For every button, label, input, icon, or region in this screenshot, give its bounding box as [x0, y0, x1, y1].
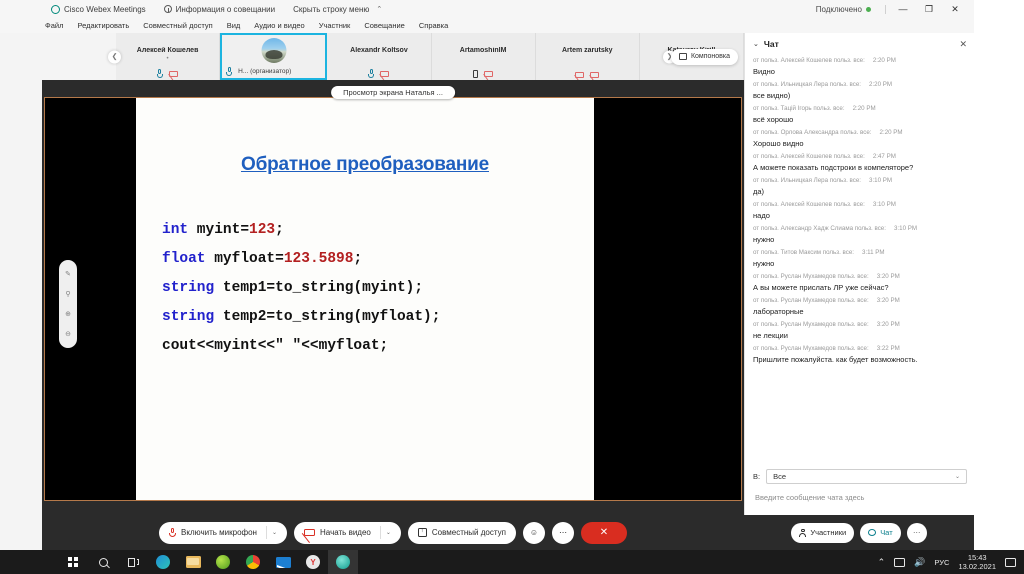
participant-status-icons	[327, 69, 430, 78]
taskbar-app-chrome[interactable]	[238, 550, 268, 574]
participant-name: Alexandr Koltsov	[327, 47, 430, 54]
minimize-icon: —	[899, 4, 908, 14]
chat-message: от польз. Руслан Мухамедов польз. все:3:…	[753, 271, 967, 294]
microphone-icon	[226, 67, 232, 76]
chat-message-sender: от польз. Алексей Кошелев польз. все:	[753, 201, 865, 208]
code-lines: int myint=123; float myfloat=123.5898; s…	[162, 222, 440, 354]
chat-message: от польз. Алексей Кошелев польз. все:2:4…	[753, 151, 967, 174]
chat-message-text: всё хорошо	[753, 114, 967, 126]
mail-icon	[276, 557, 291, 568]
panel-control-bar: Участники Чат ⋯	[744, 515, 974, 550]
close-icon: ✕	[951, 4, 959, 15]
thumbnails-prev-button[interactable]: ❮	[108, 50, 121, 63]
chat-message-text: Хорошо видно	[753, 138, 967, 150]
chat-message-text: А вы можете прислать ЛР уже сейчас?	[753, 282, 967, 294]
network-icon[interactable]	[894, 558, 905, 567]
chat-message-sender: от польз. Ильницкая Лера польз. все:	[753, 177, 861, 184]
menu-item-audio-video[interactable]: Аудио и видео	[247, 21, 311, 30]
task-view-icon	[128, 558, 139, 567]
menu-item-file[interactable]: Файл	[38, 21, 70, 30]
zoom-in-icon[interactable]: ⊕	[64, 310, 73, 319]
screen: Cisco Webex Meetings Информация о совеща…	[0, 0, 1024, 574]
chat-message-text: лабораторные	[753, 306, 967, 318]
start-video-button[interactable]: Начать видео ⌄	[294, 522, 401, 544]
menu-item-participant[interactable]: Участник	[312, 21, 358, 30]
volume-icon[interactable]: 🔊	[914, 557, 925, 568]
chat-message: от польз. Руслан Мухамедов польз. все:3:…	[753, 295, 967, 318]
code-text: myfloat=	[206, 251, 284, 267]
more-horizontal-icon: ⋯	[559, 528, 567, 537]
taskbar-clock[interactable]: 15:43 13.02.2021	[958, 553, 996, 571]
more-horizontal-icon: ⋯	[913, 528, 921, 537]
chat-message-text: Видно	[753, 66, 967, 78]
system-tray: ⌃ 🔊 РУС 15:43 13.02.2021	[878, 553, 1024, 571]
participants-button[interactable]: Участники	[791, 523, 854, 543]
participant-thumbnail[interactable]: Artem zarutsky	[536, 33, 640, 80]
microphone-icon	[368, 69, 374, 78]
chat-bubble-icon	[868, 529, 876, 536]
chat-message-time: 3:20 PM	[877, 321, 900, 328]
chat-message-time: 3:10 PM	[894, 225, 917, 232]
taskbar-app-explorer[interactable]	[178, 550, 208, 574]
code-text: myint=	[188, 222, 249, 238]
code-keyword: string	[162, 280, 214, 296]
code-text: temp1=to_string(myint);	[214, 280, 423, 296]
edge-icon	[156, 555, 170, 569]
chat-footer: В: Все ⌄ Введите сообщение чата здесь	[745, 469, 975, 502]
tray-expand-button[interactable]: ⌃	[878, 557, 886, 568]
chat-message-sender: от польз. Руслан Мухамедов польз. все:	[753, 321, 869, 328]
code-number: 123.5898	[284, 251, 354, 267]
chevron-down-icon[interactable]: ⌄	[266, 526, 277, 539]
task-view-button[interactable]	[118, 550, 148, 574]
product-title-label: Cisco Webex Meetings	[64, 5, 146, 14]
code-text: ;	[353, 251, 362, 267]
participant-name: ArtamoshinIM	[432, 47, 535, 54]
chat-message: от польз. Ильницкая Лера польз. все:3:10…	[753, 175, 967, 198]
shared-screen-stage: Просмотр экрана Наталья ... Обратное пре…	[42, 80, 744, 515]
meeting-control-bar: Включить микрофон ⌄ Начать видео ⌄ Совме…	[42, 515, 744, 550]
chat-message-time: 3:20 PM	[877, 273, 900, 280]
app-green-icon	[216, 555, 230, 569]
webex-logo-icon	[51, 5, 60, 14]
menu-item-help[interactable]: Справка	[412, 21, 455, 30]
chat-button[interactable]: Чат	[860, 523, 900, 543]
chevron-down-icon[interactable]: ⌄	[753, 40, 759, 48]
microphone-muted-icon	[169, 528, 176, 538]
chat-message-meta: от польз. Руслан Мухамедов польз. все:3:…	[753, 271, 967, 282]
chat-message-time: 3:11 PM	[862, 249, 885, 256]
video-off-icon	[380, 71, 389, 77]
hide-menubar-button[interactable]: Скрыть строку меню ⌃	[284, 5, 391, 14]
menu-item-edit[interactable]: Редактировать	[70, 21, 136, 30]
chat-message-meta: от польз. Алексей Кошелев польз. все:2:2…	[753, 55, 967, 66]
chat-message: от польз. Тацій Ігорь польз. все:2:20 PM…	[753, 103, 967, 126]
participant-status-icons	[116, 69, 219, 78]
chat-message-meta: от польз. Руслан Мухамедов польз. все:3:…	[753, 319, 967, 330]
participant-thumbnail[interactable]: Алексей Кошелев •	[116, 33, 220, 80]
chat-message-time: 3:20 PM	[877, 297, 900, 304]
share-content-button[interactable]: Совместный доступ	[408, 522, 516, 544]
menu-bar: Файл Редактировать Совместный доступ Вид…	[0, 18, 974, 33]
chevron-up-icon: ⌃	[376, 5, 382, 13]
taskbar-app-edge[interactable]	[148, 550, 178, 574]
chat-message-time: 3:22 PM	[877, 345, 900, 352]
chat-message-text: не лекции	[753, 330, 967, 342]
connection-status: Подключено	[816, 5, 871, 14]
participant-thumbnail[interactable]: Alexandr Koltsov	[327, 33, 431, 80]
search-icon	[99, 558, 108, 567]
minimize-button[interactable]: —	[890, 0, 916, 18]
file-explorer-icon	[186, 556, 201, 568]
webex-icon	[336, 555, 350, 569]
chevron-down-icon[interactable]: ⌄	[380, 526, 391, 539]
chat-message-meta: от польз. Ильницкая Лера польз. все:2:20…	[753, 79, 967, 90]
chat-message-text: нужно	[753, 258, 967, 270]
taskbar-search-button[interactable]	[88, 550, 118, 574]
leave-meeting-button[interactable]: ✕	[581, 522, 627, 544]
menu-item-meeting[interactable]: Совещание	[357, 21, 412, 30]
chat-message-time: 2:20 PM	[853, 105, 876, 112]
zoom-out-icon[interactable]: ⊖	[64, 330, 73, 339]
chat-message-sender: от польз. Алексей Кошелев польз. все:	[753, 57, 865, 64]
chat-message-input[interactable]: Введите сообщение чата здесь	[753, 493, 967, 502]
participant-subtext: •	[116, 56, 219, 62]
code-text: cout<<myint<<" "<<myfloat;	[162, 338, 388, 354]
share-banner-label: Просмотр экрана Наталья ...	[343, 88, 443, 97]
chat-message-text: нужно	[753, 234, 967, 246]
chat-message-time: 2:20 PM	[869, 81, 892, 88]
meeting-info-label: Информация о совещании	[176, 5, 275, 14]
taskbar-app-mail[interactable]	[268, 550, 298, 574]
chat-message: от польз. Руслан Мухамедов польз. все:3:…	[753, 319, 967, 342]
chat-message-meta: от польз. Алексей Кошелев польз. все:3:1…	[753, 199, 967, 210]
video-off-icon	[169, 71, 178, 77]
notification-icon[interactable]	[1005, 558, 1016, 567]
unmute-label: Включить микрофон	[181, 528, 257, 537]
layout-icon	[679, 53, 687, 60]
title-bar-right: Подключено — ❐ ✕	[816, 0, 968, 18]
camera-off-icon	[304, 529, 315, 536]
chat-message: от польз. Титов Максим польз. все:3:11 P…	[753, 247, 967, 270]
chat-panel-title: ⌄ Чат	[753, 39, 779, 49]
chat-message-meta: от польз. Александр Хадж Слиама польз. в…	[753, 223, 967, 234]
chat-message-sender: от польз. Титов Максим польз. все:	[753, 249, 854, 256]
close-icon: ✕	[600, 527, 608, 538]
taskbar-app-webex[interactable]	[328, 550, 358, 574]
share-content-label: Совместный доступ	[432, 528, 506, 537]
participant-thumbnail-active[interactable]: Н... (организатор)	[220, 33, 327, 80]
connection-status-label: Подключено	[816, 5, 862, 14]
taskbar-app-yandex[interactable]: Y	[298, 550, 328, 574]
pin-icon[interactable]: ⚲	[64, 290, 73, 299]
chat-title-label: Чат	[764, 39, 779, 49]
close-chat-button[interactable]: ✕	[959, 39, 967, 50]
chat-message-time: 2:47 PM	[873, 153, 896, 160]
participant-name: Алексей Кошелев	[116, 47, 219, 54]
start-button[interactable]	[58, 550, 88, 574]
layout-button[interactable]: Компоновка	[671, 49, 738, 65]
participant-name: Artem zarutsky	[536, 47, 639, 54]
chat-message-meta: от польз. Руслан Мухамедов польз. все:3:…	[753, 343, 967, 354]
info-icon	[164, 5, 172, 13]
chat-message-text: все видно)	[753, 90, 967, 102]
chat-message-sender: от польз. Орлова Александра польз. все:	[753, 129, 872, 136]
chat-message-meta: от польз. Орлова Александра польз. все:2…	[753, 127, 967, 138]
code-keyword: float	[162, 251, 206, 267]
windows-taskbar: Y ⌃ 🔊 РУС 15:43 13.02.2021	[0, 550, 1024, 574]
panel-more-button[interactable]: ⋯	[907, 523, 927, 543]
chrome-icon	[246, 555, 260, 569]
participant-status-icons	[432, 70, 535, 78]
share-tools-toolbar[interactable]: ✎ ⚲ ⊕ ⊖	[59, 260, 77, 348]
chat-message-time: 2:20 PM	[880, 129, 903, 136]
video-icon	[575, 72, 584, 78]
chat-message-time: 3:10 PM	[869, 177, 892, 184]
chat-button-label: Чат	[880, 528, 892, 537]
chat-message: от польз. Ильницкая Лера польз. все:2:20…	[753, 79, 967, 102]
chat-message: от польз. Александр Хадж Слиама польз. в…	[753, 223, 967, 246]
chat-message: от польз. Руслан Мухамедов польз. все:3:…	[753, 343, 967, 366]
title-bar-left: Cisco Webex Meetings Информация о совеща…	[42, 0, 391, 18]
chat-recipient-value: Все	[773, 472, 786, 481]
clock-date: 13.02.2021	[958, 562, 996, 571]
video-off-icon	[590, 72, 599, 78]
participants-label: Участники	[810, 528, 846, 537]
close-window-button[interactable]: ✕	[942, 0, 968, 18]
participant-thumbnail[interactable]: ArtamoshinIM	[432, 33, 536, 80]
chat-message-time: 3:10 PM	[873, 201, 896, 208]
annotate-icon[interactable]: ✎	[64, 270, 73, 279]
participant-thumbnail-strip: Алексей Кошелев • Н... (организатор) Ale…	[116, 33, 744, 80]
layout-label: Компоновка	[691, 53, 730, 60]
yandex-icon: Y	[306, 555, 320, 569]
microphone-icon	[157, 69, 163, 78]
chat-message-meta: от польз. Тацій Ігорь польз. все:2:20 PM	[753, 103, 967, 114]
maximize-button[interactable]: ❐	[916, 0, 942, 18]
video-off-icon	[484, 71, 493, 77]
menu-item-share[interactable]: Совместный доступ	[136, 21, 219, 30]
menu-item-view[interactable]: Вид	[220, 21, 248, 30]
chevron-left-icon: ❮	[112, 53, 118, 61]
chat-message-sender: от польз. Ильницкая Лера польз. все:	[753, 81, 861, 88]
titlebar-divider	[885, 5, 886, 14]
chat-message-text: А можете показать подстроки в компелятор…	[753, 162, 967, 174]
chat-panel: ⌄ Чат ✕ от польз. Алексей Кошелев польз.…	[744, 33, 974, 550]
chevron-down-icon: ⌄	[955, 473, 960, 480]
code-block: int myint=123; float myfloat=123.5898; s…	[162, 216, 440, 361]
chat-message-sender: от польз. Тацій Ігорь польз. все:	[753, 105, 845, 112]
reactions-button[interactable]: ☺	[523, 522, 545, 544]
chat-message-sender: от польз. Руслан Мухамедов польз. все:	[753, 297, 869, 304]
chat-message-sender: от польз. Алексей Кошелев польз. все:	[753, 153, 865, 160]
chat-to-label: В:	[753, 472, 760, 481]
chat-message-meta: от польз. Титов Максим польз. все:3:11 P…	[753, 247, 967, 258]
more-options-button[interactable]: ⋯	[552, 522, 574, 544]
chat-message: от польз. Орлова Александра польз. все:2…	[753, 127, 967, 150]
taskbar-app-green[interactable]	[208, 550, 238, 574]
code-text: temp2=to_string(myfloat);	[214, 309, 440, 325]
title-bar: Cisco Webex Meetings Информация о совеща…	[0, 0, 974, 18]
start-icon	[68, 557, 78, 567]
chat-message-meta: от польз. Руслан Мухамедов польз. все:3:…	[753, 295, 967, 306]
avatar	[261, 38, 286, 63]
webex-app-window: Cisco Webex Meetings Информация о совеща…	[0, 0, 974, 550]
chat-message-sender: от польз. Александр Хадж Слиама польз. в…	[753, 225, 886, 232]
chat-message: от польз. Алексей Кошелев польз. все:3:1…	[753, 199, 967, 222]
chat-message-sender: от польз. Руслан Мухамедов польз. все:	[753, 345, 869, 352]
chat-message-time: 2:20 PM	[873, 57, 896, 64]
chat-panel-header: ⌄ Чат ✕	[745, 33, 975, 55]
share-screen-icon	[418, 528, 427, 537]
chat-message-list[interactable]: от польз. Алексей Кошелев польз. все:2:2…	[745, 55, 975, 485]
chat-message-meta: от польз. Ильницкая Лера польз. все:3:10…	[753, 175, 967, 186]
chat-message-text: Пришлите пожалуйста. как будет возможнос…	[753, 354, 967, 366]
unmute-button[interactable]: Включить микрофон ⌄	[159, 522, 287, 544]
chat-message-sender: от польз. Руслан Мухамедов польз. все:	[753, 273, 869, 280]
participant-name: Н... (организатор)	[238, 68, 291, 75]
chat-recipient-row: В: Все ⌄	[753, 469, 967, 484]
participants-icon	[799, 529, 806, 537]
chat-recipient-select[interactable]: Все ⌄	[766, 469, 967, 484]
presentation-slide: Обратное преобразование int myint=123; f…	[136, 98, 594, 500]
chat-message-text: надо	[753, 210, 967, 222]
slide-title: Обратное преобразование	[136, 154, 594, 176]
maximize-icon: ❐	[925, 4, 933, 15]
phone-icon	[473, 70, 478, 78]
smiley-icon: ☺	[530, 528, 538, 537]
code-text: ;	[275, 222, 284, 238]
language-indicator[interactable]: РУС	[934, 558, 949, 567]
chat-message: от польз. Алексей Кошелев польз. все:2:2…	[753, 55, 967, 78]
start-video-label: Начать видео	[320, 528, 371, 537]
product-title: Cisco Webex Meetings	[42, 5, 155, 14]
code-number: 123	[249, 222, 275, 238]
participant-status-icons	[536, 72, 639, 78]
connection-status-dot-icon	[866, 7, 871, 12]
meeting-info-button[interactable]: Информация о совещании	[155, 5, 284, 14]
clock-time: 15:43	[958, 553, 996, 562]
chat-message-meta: от польз. Алексей Кошелев польз. все:2:4…	[753, 151, 967, 162]
chat-message-text: да)	[753, 186, 967, 198]
shared-content-frame: Обратное преобразование int myint=123; f…	[44, 97, 742, 501]
participant-status-icons: Н... (организатор)	[222, 67, 325, 76]
hide-menubar-label: Скрыть строку меню	[293, 5, 369, 14]
code-keyword: int	[162, 222, 188, 238]
taskbar-icons: Y	[58, 550, 358, 574]
code-keyword: string	[162, 309, 214, 325]
share-banner[interactable]: Просмотр экрана Наталья ...	[331, 86, 455, 99]
